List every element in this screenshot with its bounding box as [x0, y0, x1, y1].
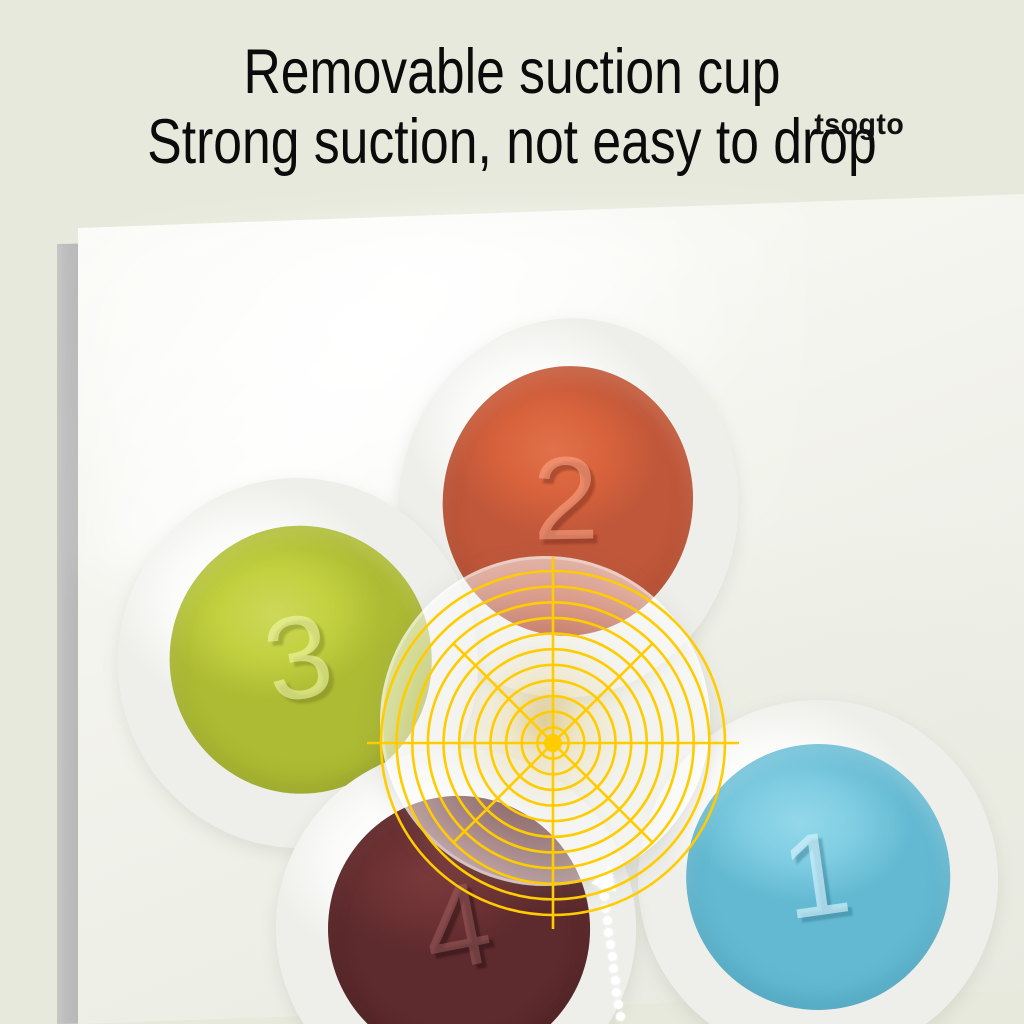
trail-dot — [614, 1000, 623, 1009]
petal-number-label: 1 — [777, 814, 858, 940]
caption-line-1: Removable suction cup — [92, 40, 932, 104]
screenshot-canvas: 2 3 1 4 — [0, 0, 1024, 1024]
trail-dot — [606, 940, 615, 949]
trail-dot — [616, 1012, 625, 1021]
trail-dot — [608, 952, 617, 961]
radar-target-overlay — [378, 568, 728, 918]
radar-target-icon — [378, 568, 728, 918]
caption-line-2: Strong suction, not easy to drop — [92, 110, 932, 174]
caption-block: Removable suction cup Strong suction, no… — [0, 0, 1024, 175]
petal-number-label: 2 — [534, 441, 602, 560]
petal-number-label: 3 — [258, 596, 343, 724]
radar-hub — [544, 734, 562, 752]
watermark-label: tsogto — [814, 108, 904, 142]
trail-dot — [611, 976, 620, 985]
board-left-edge — [57, 244, 79, 1024]
